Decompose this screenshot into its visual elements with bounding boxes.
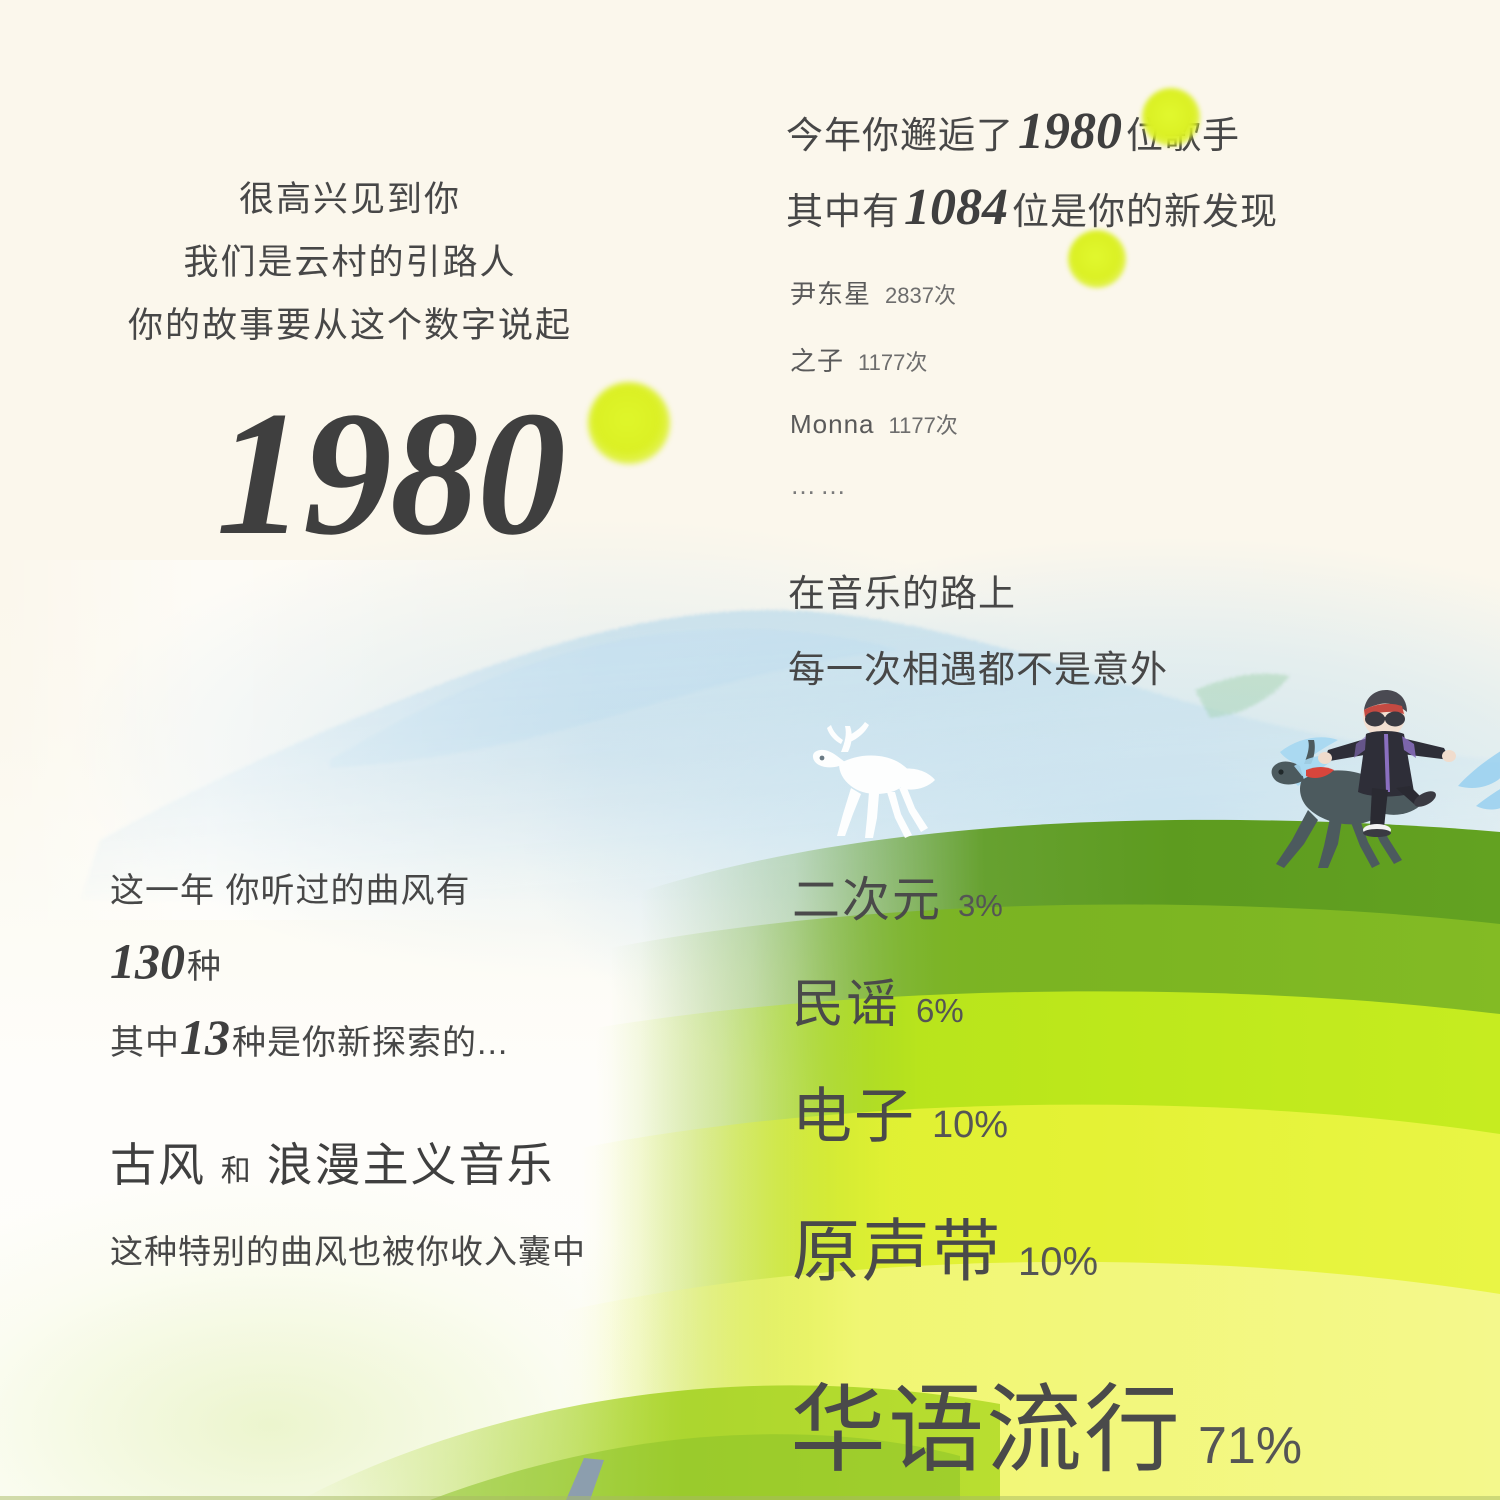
genre-chart-labels: 二次元 3% 民谣 6% 电子 10% 原声带 10% 华语流行 71% bbox=[0, 0, 1500, 1500]
genre-name: 华语流行 bbox=[790, 1352, 1182, 1491]
genre-percent: 10% bbox=[1018, 1240, 1098, 1285]
highlight-dot-big-number bbox=[588, 382, 670, 464]
genre-percent: 6% bbox=[916, 992, 964, 1030]
singers-new-count: 1084 bbox=[900, 179, 1012, 236]
genre-bar-label-0: 二次元 3% bbox=[792, 860, 1003, 930]
genre-percent: 10% bbox=[932, 1104, 1008, 1147]
singers-total-count: 1980 bbox=[1014, 103, 1126, 160]
genre-name: 电子 bbox=[792, 1068, 916, 1155]
genre-name: 二次元 bbox=[792, 860, 942, 930]
genre-name: 原声带 bbox=[792, 1196, 1002, 1295]
genre-name: 民谣 bbox=[792, 962, 900, 1037]
genre-percent: 71% bbox=[1198, 1416, 1302, 1476]
big-number-1980: 1980 bbox=[216, 384, 564, 562]
highlight-dot-singers-total bbox=[1142, 88, 1200, 146]
genre-bar-label-3: 原声带 10% bbox=[792, 1196, 1098, 1295]
year-in-music-poster: 很高兴见到你 我们是云村的引路人 你的故事要从这个数字说起 1980 今年你邂逅… bbox=[0, 0, 1500, 1500]
highlight-dot-singers-new bbox=[1068, 230, 1126, 288]
genre-bar-label-1: 民谣 6% bbox=[792, 962, 964, 1037]
genre-percent: 3% bbox=[958, 888, 1003, 924]
genre-bar-label-4: 华语流行 71% bbox=[790, 1352, 1302, 1491]
genre-bar-label-2: 电子 10% bbox=[792, 1068, 1008, 1155]
